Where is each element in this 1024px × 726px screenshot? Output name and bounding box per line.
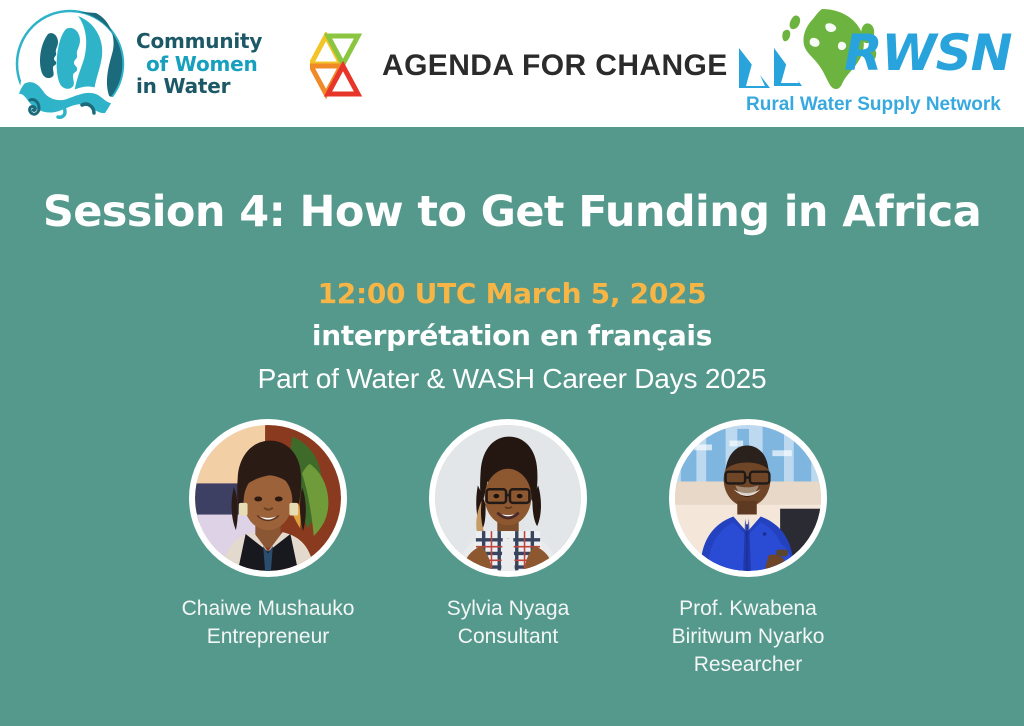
- speaker-3-info: Prof. Kwabena Biritwum Nyarko Researcher: [628, 595, 868, 679]
- agenda-for-change-wordmark: AGENDA FOR CHANGE: [382, 49, 728, 83]
- main-content-panel: Session 4: How to Get Funding in Africa …: [0, 127, 1024, 726]
- logo-header-band: Community of Women in Water AGENDA: [0, 0, 1024, 127]
- cow-line-2: of Women: [136, 53, 262, 76]
- cow-line-1: Community: [136, 30, 262, 53]
- rwsn-tagline: Rural Water Supply Network: [746, 94, 1001, 116]
- webinar-promo-poster: Community of Women in Water AGENDA: [0, 0, 1024, 726]
- speaker-3-name-line-2: Biritwum Nyarko: [628, 623, 868, 651]
- speaker-photo-chaiwe-mushauko: [189, 419, 347, 577]
- speaker-2-info: Sylvia Nyaga Consultant: [388, 595, 628, 651]
- agenda-for-change-logo: AGENDA FOR CHANGE: [310, 28, 710, 104]
- speaker-photo-kwabena-biritwum-nyarko: [669, 419, 827, 577]
- speaker-photo-sylvia-nyaga: [429, 419, 587, 577]
- rwsn-triangle-icon: [736, 46, 796, 90]
- rwsn-logo: RWSN Rural Water Supply Network: [736, 8, 1018, 120]
- session-time: 12:00 UTC March 5, 2025: [0, 277, 1024, 310]
- cow-line-3: in Water: [136, 75, 262, 98]
- session-title: Session 4: How to Get Funding in Africa: [0, 187, 1024, 237]
- event-series-note: Part of Water & WASH Career Days 2025: [0, 363, 1024, 395]
- speaker-1-name: Chaiwe Mushauko: [148, 595, 388, 623]
- community-of-women-in-water-wordmark: Community of Women in Water: [136, 30, 262, 98]
- speaker-3-role: Researcher: [628, 651, 868, 679]
- interpretation-note: interprétation en français: [0, 319, 1024, 352]
- speaker-3-name-line-1: Prof. Kwabena: [628, 595, 868, 623]
- agenda-for-change-triangles-icon: [310, 32, 374, 100]
- speaker-1-info: Chaiwe Mushauko Entrepreneur: [148, 595, 388, 651]
- speaker-card-1: Chaiwe Mushauko Entrepreneur: [148, 419, 388, 651]
- rwsn-lettermark: RWSN: [844, 28, 1012, 78]
- speaker-card-3: Prof. Kwabena Biritwum Nyarko Researcher: [628, 419, 868, 679]
- speaker-2-name: Sylvia Nyaga: [388, 595, 628, 623]
- community-of-women-in-water-logo: Community of Women in Water: [14, 8, 284, 120]
- speakers-row: Chaiwe Mushauko Entrepreneur: [0, 419, 1024, 719]
- speaker-card-2: Sylvia Nyaga Consultant: [388, 419, 628, 651]
- community-of-women-in-water-mark-icon: [14, 8, 126, 120]
- speaker-1-role: Entrepreneur: [148, 623, 388, 651]
- speaker-2-role: Consultant: [388, 623, 628, 651]
